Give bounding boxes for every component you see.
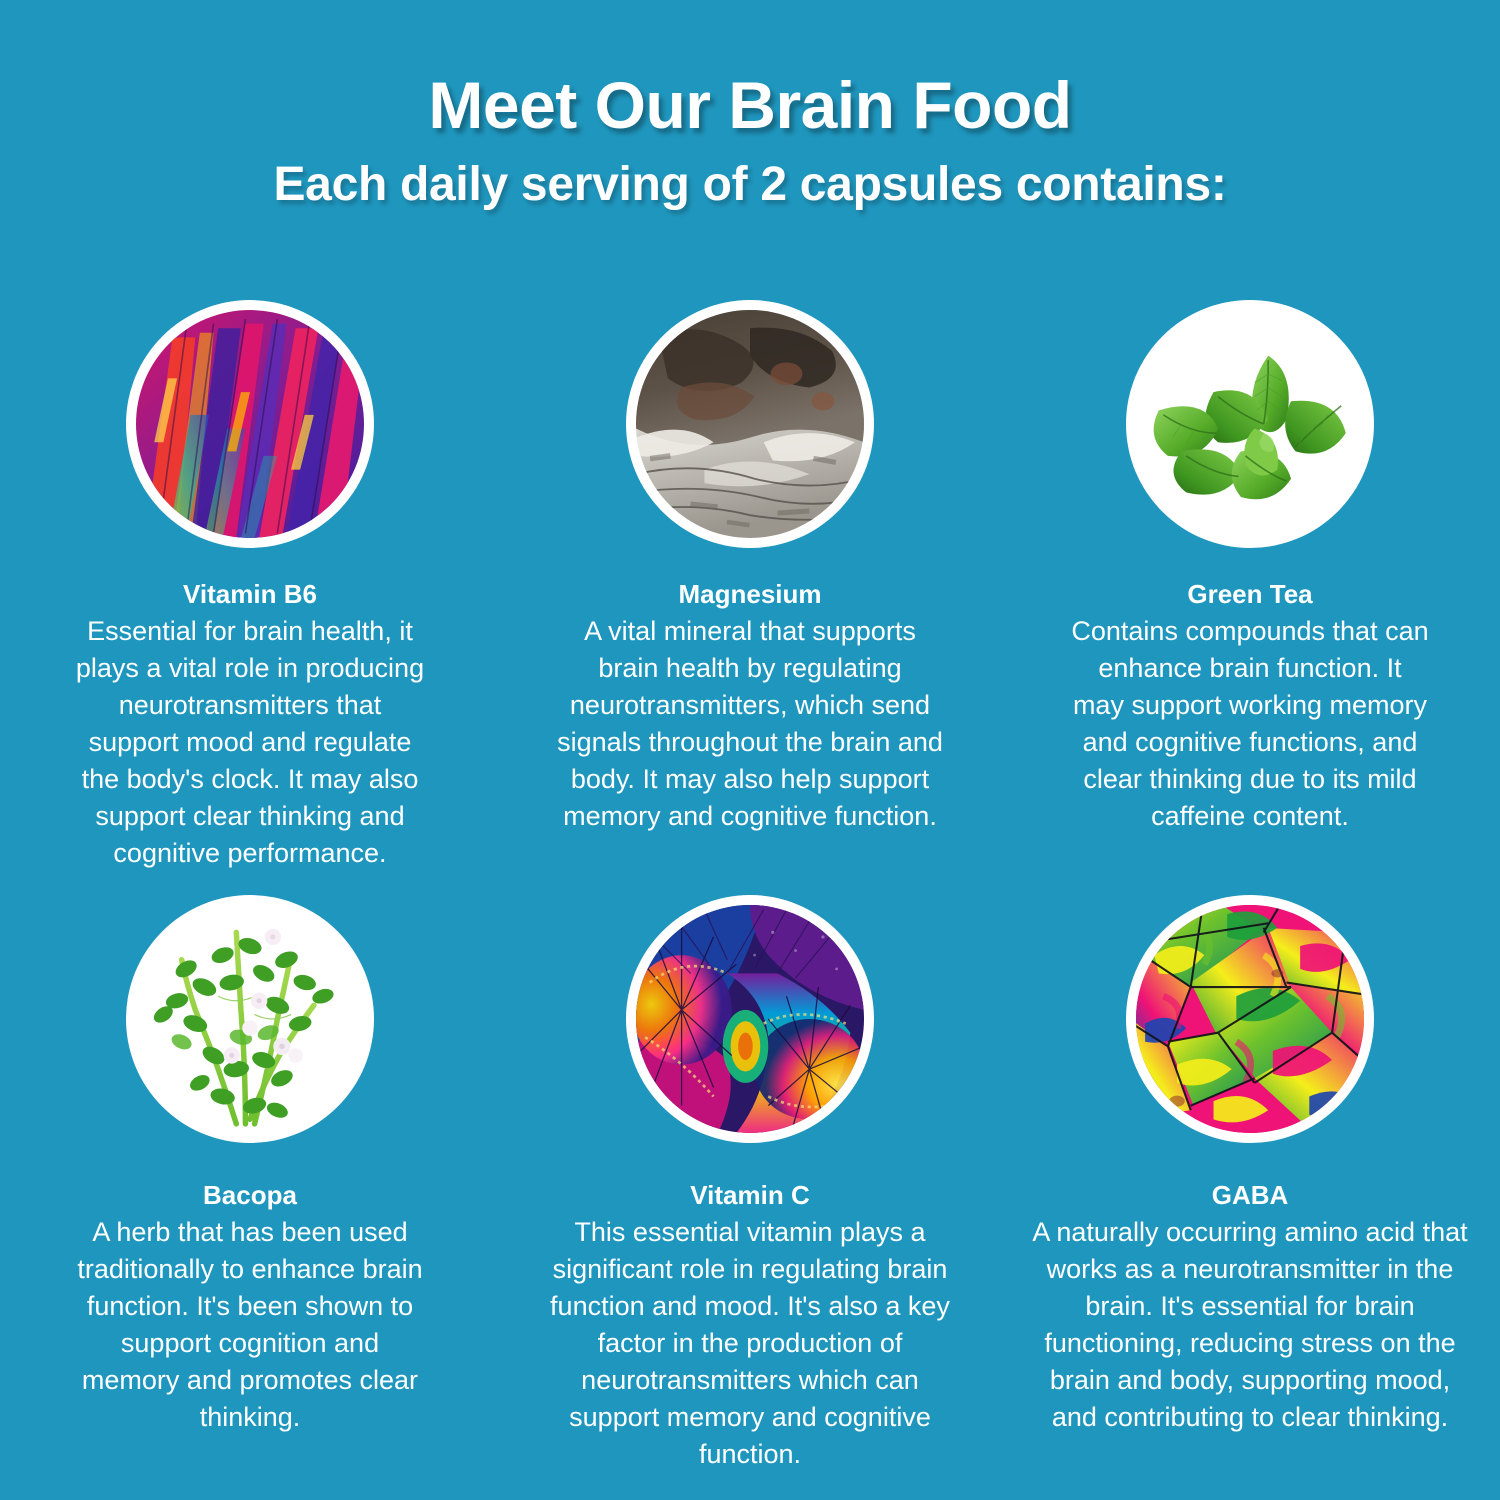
ingredient-card-gaba: GABA A naturally occurring amino acid th… [1000,895,1500,1490]
infographic-page: Meet Our Brain Food Each daily serving o… [0,0,1500,1500]
ingredient-image-ring [1126,895,1374,1143]
ingredient-text: Bacopa A herb that has been used traditi… [18,1179,482,1436]
ingredient-image-ring [1126,300,1374,548]
page-subtitle: Each daily serving of 2 capsules contain… [0,160,1500,210]
bacopa-herb-plant-icon [136,905,364,1133]
ingredient-description: Essential for brain health, it plays a v… [70,613,430,872]
ingredient-description: Contains compounds that can enhance brai… [1070,613,1430,835]
ingredient-name: Magnesium [518,578,982,611]
vitamin-b6-crystal-micrograph-icon [136,310,364,538]
ingredient-card-green-tea: Green Tea Contains compounds that can en… [1000,300,1500,895]
ingredient-text: Green Tea Contains compounds that can en… [1018,578,1482,835]
ingredient-text: Magnesium A vital mineral that supports … [518,578,982,835]
ingredient-description: A naturally occurring amino acid that wo… [1025,1214,1475,1436]
ingredient-card-vitamin-c: Vitamin C This essential vitamin plays a… [500,895,1000,1490]
ingredient-image-ring [626,300,874,548]
ingredient-text: GABA A naturally occurring amino acid th… [1018,1179,1482,1436]
ingredient-card-vitamin-b6: Vitamin B6 Essential for brain health, i… [0,300,500,895]
header: Meet Our Brain Food Each daily serving o… [0,72,1500,210]
ingredient-name: Bacopa [18,1179,482,1212]
ingredient-text: Vitamin B6 Essential for brain health, i… [18,578,482,872]
ingredient-description: This essential vitamin plays a significa… [538,1214,963,1473]
ingredient-description: A vital mineral that supports brain heal… [555,613,945,835]
ingredient-name: Green Tea [1018,578,1482,611]
ingredient-image-ring [126,895,374,1143]
vitamin-c-crystal-micrograph-icon [636,905,864,1133]
ingredient-text: Vitamin C This essential vitamin plays a… [518,1179,982,1473]
ingredient-grid: Vitamin B6 Essential for brain health, i… [0,300,1500,1490]
ingredient-description: A herb that has been used traditionally … [75,1214,425,1436]
magnesium-mineral-rock-icon [636,310,864,538]
ingredient-name: GABA [1018,1179,1482,1212]
ingredient-name: Vitamin B6 [18,578,482,611]
page-title: Meet Our Brain Food [0,72,1500,138]
ingredient-image-ring [126,300,374,548]
ingredient-name: Vitamin C [518,1179,982,1212]
ingredient-card-bacopa: Bacopa A herb that has been used traditi… [0,895,500,1490]
ingredient-card-magnesium: Magnesium A vital mineral that supports … [500,300,1000,895]
ingredient-image-ring [626,895,874,1143]
gaba-crystal-micrograph-icon [1136,905,1364,1133]
green-tea-leaves-icon [1136,310,1364,538]
